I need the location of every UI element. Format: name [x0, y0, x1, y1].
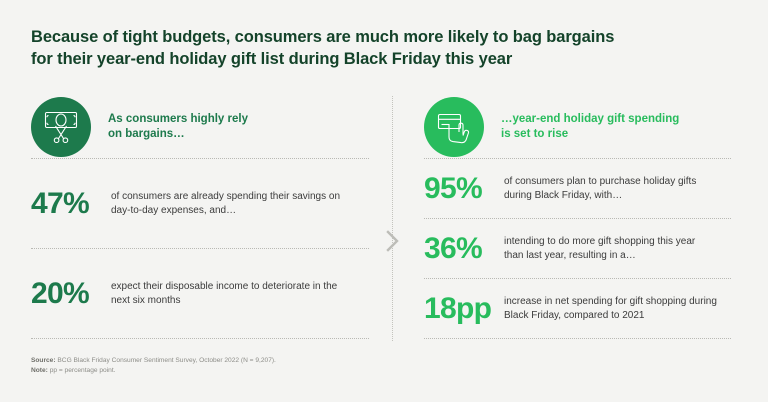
stat-value-20: 20% [31, 277, 109, 311]
footnote-source: Source: BCG Black Friday Consumer Sentim… [31, 356, 276, 366]
footnote-source-text: BCG Black Friday Consumer Sentiment Surv… [57, 357, 275, 364]
footnote-source-label: Source: [31, 357, 56, 364]
left-column: As consumers highly rely on bargains… 47… [31, 96, 369, 340]
page-title-line-1: Because of tight budgets, consumers are … [31, 26, 731, 48]
stat-card-36: 36% intending to do more gift shopping t… [424, 220, 731, 278]
footnote-note-text: pp = percentage point. [50, 367, 116, 374]
left-separator-3 [31, 338, 369, 340]
stat-value-36: 36% [424, 232, 502, 266]
stat-value-18pp: 18pp [424, 292, 502, 326]
credit-card-hand-icon [424, 97, 484, 157]
chevron-right-icon [383, 228, 403, 254]
stat-text-95-line-2: during Black Friday, with… [504, 189, 696, 203]
stat-text-36-line-2: than last year, resulting in a… [504, 249, 695, 263]
left-column-heading: As consumers highly rely on bargains… [108, 112, 248, 142]
right-heading-line-1: …year-end holiday gift spending [501, 112, 679, 127]
right-column-heading: …year-end holiday gift spending is set t… [501, 112, 679, 142]
footnote-note: Note: pp = percentage point. [31, 366, 276, 376]
stat-text-18pp-line-1: increase in net spending for gift shoppi… [504, 295, 717, 309]
left-column-header: As consumers highly rely on bargains… [31, 96, 369, 158]
right-column-header: …year-end holiday gift spending is set t… [424, 96, 731, 158]
stat-text-36-line-1: intending to do more gift shopping this … [504, 235, 695, 249]
column-divider [392, 96, 393, 341]
left-heading-line-1: As consumers highly rely [108, 112, 248, 127]
stat-card-95: 95% of consumers plan to purchase holida… [424, 160, 731, 218]
banknote-scissors-icon [31, 97, 91, 157]
stat-text-18pp-line-2: Black Friday, compared to 2021 [504, 309, 717, 323]
stat-text-47: of consumers are already spending their … [111, 190, 340, 218]
left-heading-line-2: on bargains… [108, 127, 248, 142]
stat-text-20-line-1: expect their disposable income to deteri… [111, 280, 337, 294]
stat-text-18pp: increase in net spending for gift shoppi… [504, 295, 717, 323]
stat-text-20-line-2: next six months [111, 294, 337, 308]
right-separator-4 [424, 338, 731, 340]
stat-text-47-line-2: day-to-day expenses, and… [111, 204, 340, 218]
page-title: Because of tight budgets, consumers are … [31, 26, 731, 70]
stat-text-36: intending to do more gift shopping this … [504, 235, 695, 263]
stat-text-47-line-1: of consumers are already spending their … [111, 190, 340, 204]
stat-card-20: 20% expect their disposable income to de… [31, 250, 369, 338]
stat-card-47: 47% of consumers are already spending th… [31, 160, 369, 248]
footnote-note-label: Note: [31, 367, 48, 374]
stat-text-20: expect their disposable income to deteri… [111, 280, 337, 308]
stat-value-95: 95% [424, 172, 502, 206]
stat-value-47: 47% [31, 187, 109, 221]
stat-text-95: of consumers plan to purchase holiday gi… [504, 175, 696, 203]
right-column: …year-end holiday gift spending is set t… [424, 96, 731, 340]
stat-text-95-line-1: of consumers plan to purchase holiday gi… [504, 175, 696, 189]
stat-card-18pp: 18pp increase in net spending for gift s… [424, 280, 731, 338]
right-heading-line-2: is set to rise [501, 127, 679, 142]
footnote: Source: BCG Black Friday Consumer Sentim… [31, 356, 276, 376]
page-title-line-2: for their year-end holiday gift list dur… [31, 48, 731, 70]
